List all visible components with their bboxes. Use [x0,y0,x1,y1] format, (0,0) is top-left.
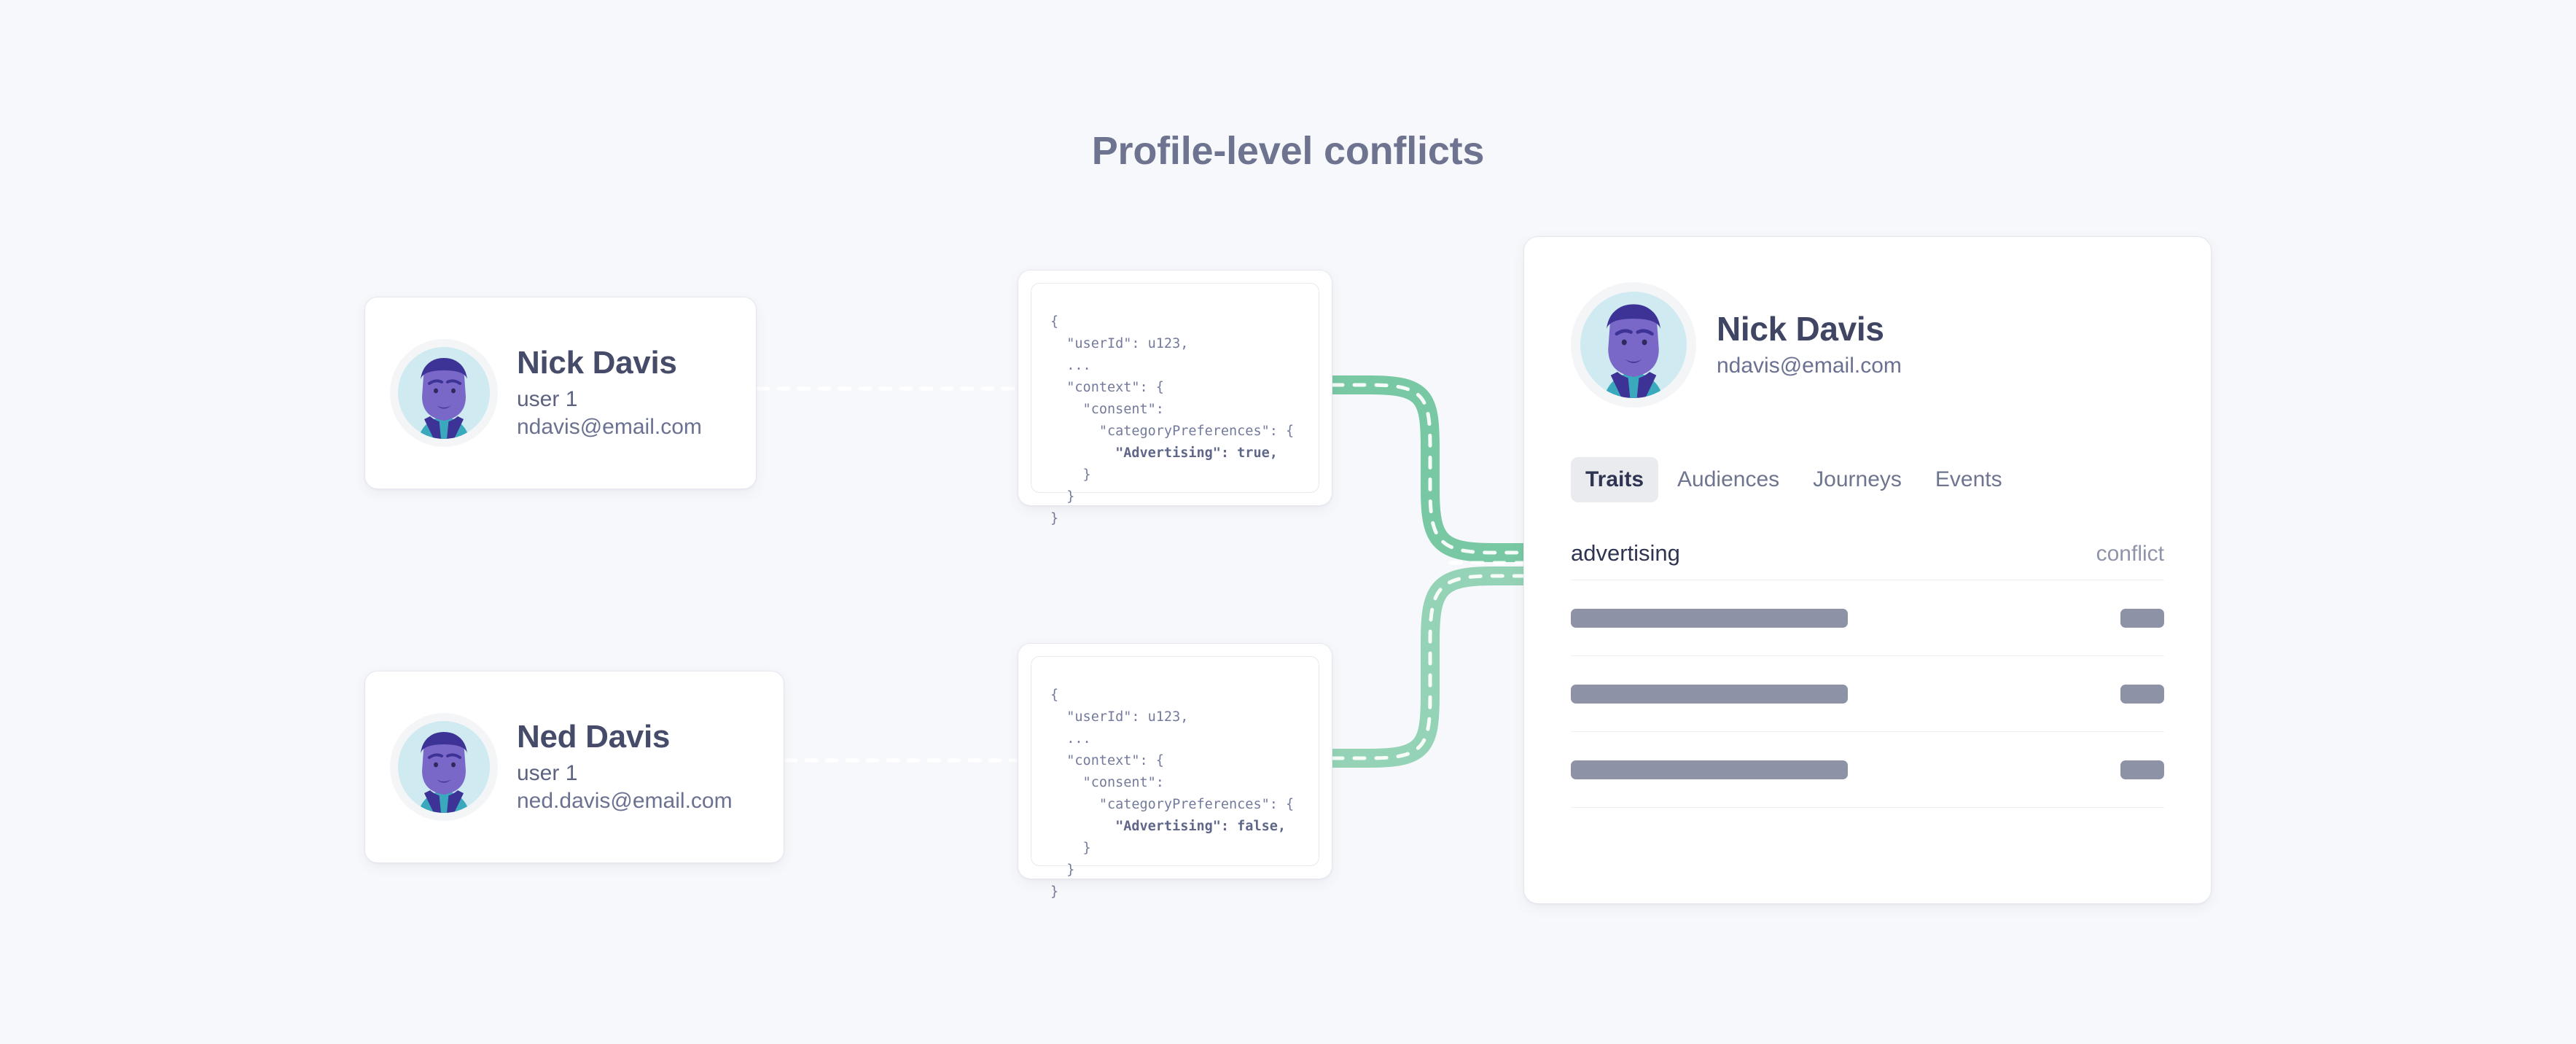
trait-value-placeholder [1571,685,1848,704]
code-line: } [1050,511,1058,526]
column-header-trait: advertising [1571,540,1680,566]
payload-json-2: { "userId": u123, ... "context": { "cons… [1050,685,1300,903]
code-line: { [1050,314,1058,330]
table-row[interactable] [1571,580,2164,656]
code-line: "context": { [1050,753,1164,768]
code-line: } [1050,884,1058,900]
avatar [1571,282,1696,408]
avatar [390,339,498,447]
source-profile-card-1[interactable]: Nick Davis user 1 ndavis@email.com [364,297,757,489]
code-line: "userId": u123, [1050,336,1188,351]
wire-code1-to-profile [1332,385,1545,553]
code-line: "context": { [1050,380,1164,395]
code-line: { [1050,687,1058,703]
code-line-highlight: "Advertising": true, [1050,445,1278,461]
trait-value-placeholder [1571,609,1848,628]
profile-name: Nick Davis [1717,311,1902,346]
code-line: } [1050,862,1074,878]
diagram-canvas: Profile-level conflicts [0,0,2576,1044]
payload-json-1: { "userId": u123, ... "context": { "cons… [1050,311,1300,530]
avatar-man-icon [398,347,490,439]
source-profile-label: user 1 [517,387,702,413]
table-row[interactable] [1571,732,2164,808]
table-row[interactable] [1571,656,2164,732]
source-profile-name: Nick Davis [517,346,702,381]
page-title: Profile-level conflicts [0,128,2576,174]
payload-code-box: { "userId": u123, ... "context": { "cons… [1031,283,1319,493]
source-profile-card-2[interactable]: Ned Davis user 1 ned.davis@email.com [364,671,784,863]
code-line: } [1050,467,1091,483]
tab-events[interactable]: Events [1921,457,2017,502]
code-line: "categoryPreferences": { [1050,424,1294,439]
traits-table: advertising conflict [1571,540,2164,808]
tab-traits[interactable]: Traits [1571,457,1658,502]
tab-journeys[interactable]: Journeys [1798,457,1916,502]
profile-tabs: Traits Audiences Journeys Events [1571,457,2164,502]
code-line: } [1050,489,1074,505]
traits-table-header: advertising conflict [1571,540,2164,580]
profile-header: Nick Davis ndavis@email.com [1571,282,2164,408]
wire-code2-to-profile [1332,576,1545,758]
source-profile-email: ned.davis@email.com [517,789,733,814]
code-line: } [1050,841,1091,856]
code-line: "consent": [1050,775,1164,790]
avatar [390,713,498,821]
code-line-highlight: "Advertising": false, [1050,819,1286,834]
code-line: "categoryPreferences": { [1050,797,1294,812]
source-profile-email: ndavis@email.com [517,415,702,440]
source-profile-name: Ned Davis [517,720,733,755]
trait-value-placeholder [1571,760,1848,779]
payload-card-2: { "userId": u123, ... "context": { "cons… [1018,643,1332,879]
profile-email: ndavis@email.com [1717,354,1902,378]
column-header-conflict: conflict [2096,542,2164,566]
conflict-value-placeholder [2120,760,2164,779]
conflict-value-placeholder [2120,685,2164,704]
payload-card-1: { "userId": u123, ... "context": { "cons… [1018,270,1332,506]
avatar-man-icon [1580,292,1687,398]
unified-profile-panel: Nick Davis ndavis@email.com Traits Audie… [1523,236,2212,904]
tab-audiences[interactable]: Audiences [1663,457,1794,502]
payload-code-box: { "userId": u123, ... "context": { "cons… [1031,656,1319,866]
code-line: "consent": [1050,402,1164,417]
conflict-value-placeholder [2120,609,2164,628]
code-line: "userId": u123, [1050,709,1188,725]
code-line: ... [1050,731,1091,747]
code-line: ... [1050,358,1091,373]
source-profile-label: user 1 [517,761,733,787]
avatar-man-icon [398,721,490,813]
